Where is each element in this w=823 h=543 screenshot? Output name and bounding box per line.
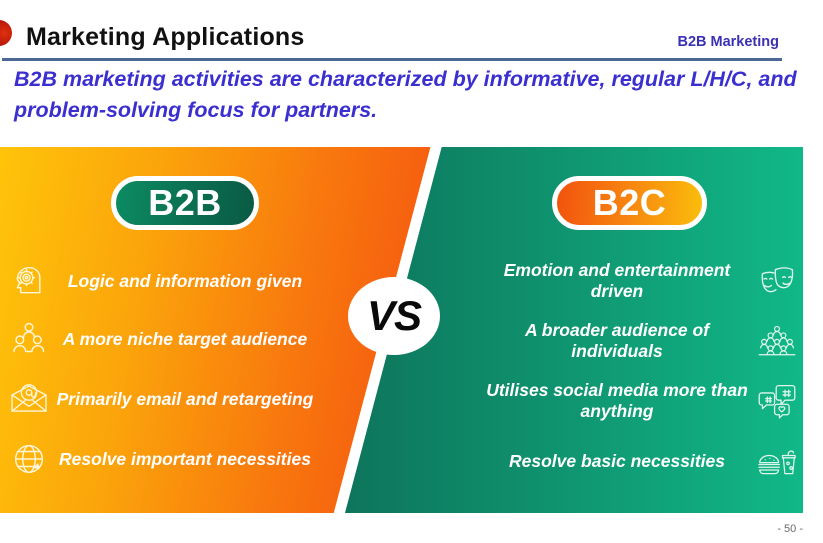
theatre-masks-icon <box>754 258 800 304</box>
fast-food-icon <box>754 438 800 484</box>
email-at-icon <box>6 376 52 422</box>
feature-row: A broader audience of individuals <box>470 318 800 364</box>
crowd-icon <box>754 318 800 364</box>
feature-label: A broader audience of individuals <box>486 320 748 362</box>
feature-label: Resolve basic necessities <box>486 451 748 472</box>
feature-list-b2b: Logic and information given A more niche… <box>6 258 326 492</box>
globe-icon <box>6 436 52 482</box>
header-divider-rule <box>2 58 782 61</box>
feature-label: Resolve important necessities <box>56 449 314 470</box>
feature-row: Resolve important necessities <box>6 436 326 482</box>
corner-logo-icon <box>0 20 12 46</box>
people-group-icon <box>6 316 52 362</box>
feature-label: Primarily email and retargeting <box>56 389 314 410</box>
brain-head-icon <box>6 258 52 304</box>
feature-list-b2c: Emotion and entertainment driven A broad… <box>470 258 800 494</box>
feature-label: A more niche target audience <box>56 329 314 350</box>
vs-marker: VS <box>348 277 440 355</box>
slide-subtitle: B2B marketing activities are characteriz… <box>14 64 804 126</box>
page-number: - 50 - <box>777 523 803 535</box>
feature-row: Primarily email and retargeting <box>6 376 326 422</box>
feature-row: Utilises social media more than anything <box>470 378 800 424</box>
feature-row: Emotion and entertainment driven <box>470 258 800 304</box>
badge-b2b: B2B <box>111 176 259 230</box>
social-media-icon <box>754 378 800 424</box>
feature-label: Emotion and entertainment driven <box>486 260 748 302</box>
feature-label: Utilises social media more than anything <box>486 380 748 422</box>
feature-row: Resolve basic necessities <box>470 438 800 484</box>
feature-row: Logic and information given <box>6 258 326 304</box>
page-title: Marketing Applications <box>26 23 305 52</box>
badge-b2c: B2C <box>552 176 707 230</box>
feature-row: A more niche target audience <box>6 316 326 362</box>
section-label: B2B Marketing <box>677 34 779 50</box>
feature-label: Logic and information given <box>56 271 314 292</box>
slide-header: Marketing Applications B2B Marketing <box>0 0 823 60</box>
